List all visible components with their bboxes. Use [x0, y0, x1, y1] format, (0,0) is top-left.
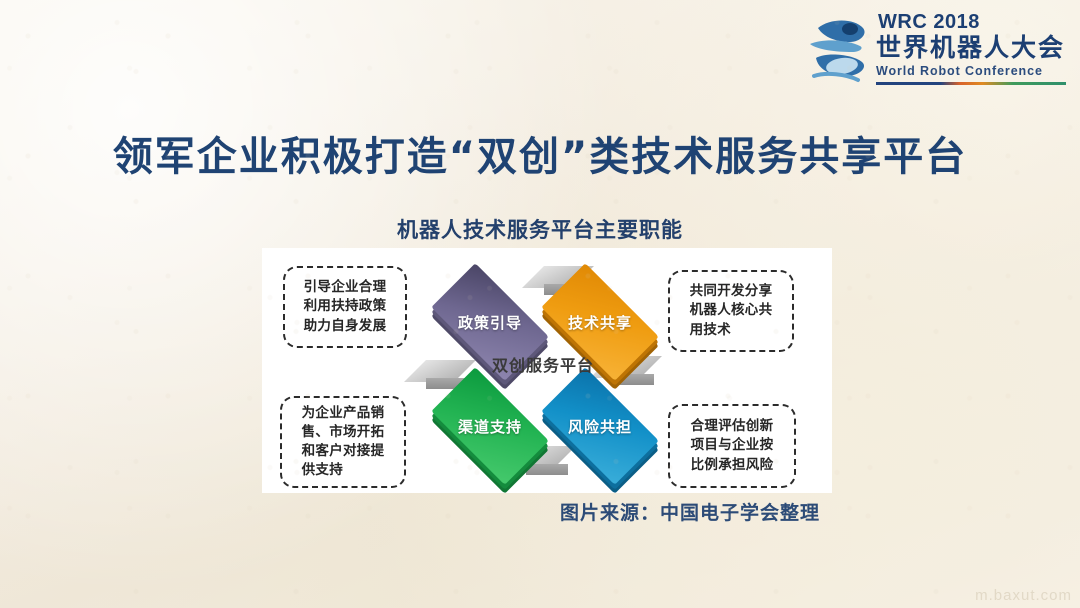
tile-risk-label: 风险共担 — [548, 374, 652, 478]
logo-english-name: World Robot Conference — [876, 65, 1070, 78]
site-watermark: m.baxut.com — [975, 587, 1072, 604]
wrc-robot-swoosh-icon — [808, 14, 874, 88]
tile-channel-support[interactable]: 渠道支持 — [438, 374, 542, 478]
slide-headline: 领军企业积极打造“双创”类技术服务共享平台 — [0, 124, 1080, 182]
tile-risk-sharing[interactable]: 风险共担 — [548, 374, 652, 478]
tile-channel-label: 渠道支持 — [438, 374, 542, 478]
callout-bottom-right: 合理评估创新 项目与企业按 比例承担风险 — [668, 404, 796, 488]
callout-bottom-right-text: 合理评估创新 项目与企业按 比例承担风险 — [691, 417, 774, 474]
slide-canvas: WRC 2018 世界机器人大会 World Robot Conference … — [0, 0, 1080, 608]
callout-bottom-left: 为企业产品销 售、市场开拓 和客户对接提 供支持 — [280, 396, 406, 488]
diagram-center-label: 双创服务平台 — [464, 352, 622, 376]
logo-text-block: WRC 2018 世界机器人大会 World Robot Conference — [874, 12, 1070, 85]
logo-gradient-rule — [876, 82, 1066, 85]
wrc-conference-logo: WRC 2018 世界机器人大会 World Robot Conference — [808, 12, 1070, 96]
callout-top-right: 共同开发分享 机器人核心共 用技术 — [668, 270, 794, 352]
callout-top-left: 引导企业合理 利用扶持政策 助力自身发展 — [283, 266, 407, 348]
logo-wrc-year: WRC 2018 — [876, 12, 1070, 32]
isometric-platform-diagram: 政策引导 技术共享 渠道支持 风险共担 双创服务平台 — [414, 252, 672, 490]
logo-chinese-name: 世界机器人大会 — [876, 34, 1070, 62]
callout-bottom-left-text: 为企业产品销 售、市场开拓 和客户对接提 供支持 — [302, 404, 385, 481]
diagram-subtitle: 机器人技术服务平台主要职能 — [0, 214, 1080, 244]
callout-top-left-text: 引导企业合理 利用扶持政策 助力自身发展 — [304, 278, 387, 335]
source-credit: 图片来源：中国电子学会整理 — [560, 498, 820, 525]
callout-top-right-text: 共同开发分享 机器人核心共 用技术 — [690, 282, 773, 339]
